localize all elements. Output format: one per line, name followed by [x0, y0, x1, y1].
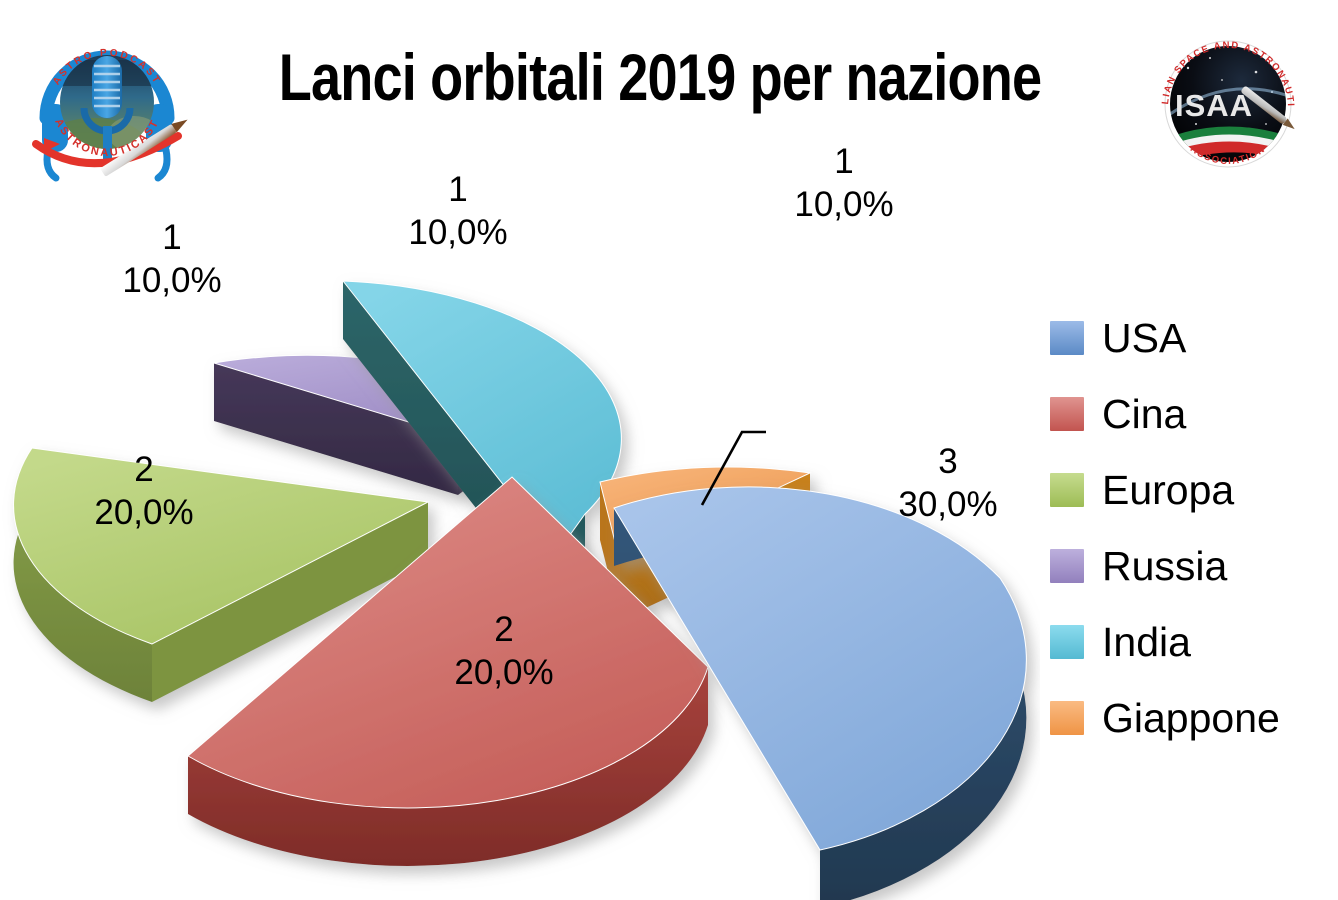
pie-chart [0, 200, 1040, 900]
legend-label-cina: Cina [1102, 392, 1186, 436]
legend-item-usa: USA [1050, 300, 1330, 376]
legend-item-india: India [1050, 604, 1330, 680]
legend-label-russia: Russia [1102, 544, 1227, 588]
legend-swatch-europa [1050, 473, 1084, 507]
legend-label-india: India [1102, 620, 1191, 664]
chart-legend: USA Cina Europa Russia India Giappone [1050, 300, 1330, 756]
data-label-cina: 2 20,0% [394, 608, 614, 694]
legend-label-usa: USA [1102, 316, 1186, 360]
legend-swatch-cina [1050, 397, 1084, 431]
legend-label-europa: Europa [1102, 468, 1234, 512]
legend-swatch-russia [1050, 549, 1084, 583]
data-label-india: 1 10,0% [348, 168, 568, 254]
astronauticast-logo-icon: ASTRO PODCAST ASTRONAUTICAST [24, 26, 190, 186]
isaa-logo-icon: ISAA ITALIAN SPACE AND ASTRONAUTICS ASSO… [1152, 28, 1304, 180]
legend-item-cina: Cina [1050, 376, 1330, 452]
legend-item-russia: Russia [1050, 528, 1330, 604]
legend-swatch-usa [1050, 321, 1084, 355]
legend-swatch-india [1050, 625, 1084, 659]
data-label-russia: 1 10,0% [52, 216, 292, 302]
data-label-europa: 2 20,0% [24, 448, 264, 534]
data-label-giappone: 1 10,0% [744, 140, 944, 226]
chart-title: Lanci orbitali 2019 per nazione [266, 38, 1053, 116]
legend-swatch-giappone [1050, 701, 1084, 735]
svg-text:ISAA: ISAA [1175, 88, 1253, 123]
legend-item-giappone: Giappone [1050, 680, 1330, 756]
legend-label-giappone: Giappone [1102, 696, 1280, 740]
data-label-usa: 3 30,0% [838, 440, 1058, 526]
legend-item-europa: Europa [1050, 452, 1330, 528]
chart-page: ASTRO PODCAST ASTRONAUTICAST [0, 0, 1338, 900]
